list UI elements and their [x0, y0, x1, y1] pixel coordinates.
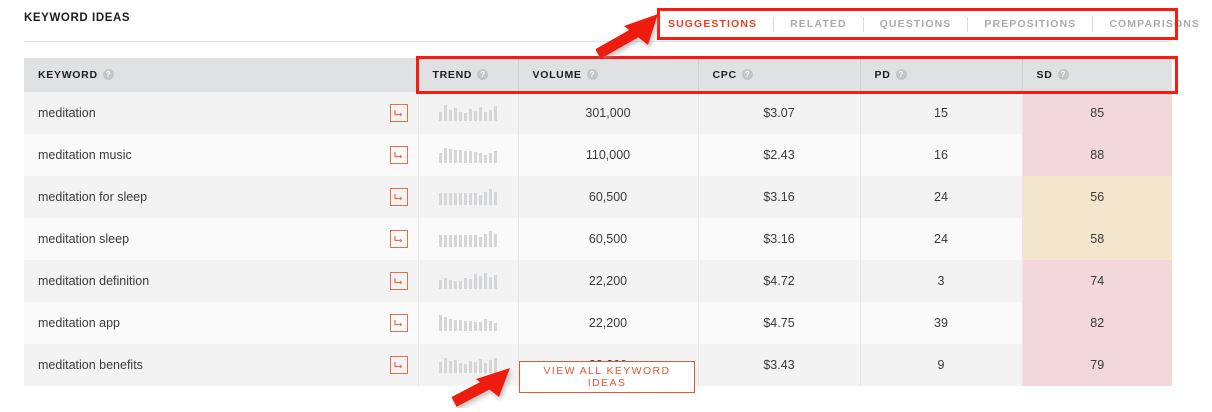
sparkline-bar	[479, 322, 482, 331]
cell-cpc: $2.43	[698, 134, 860, 176]
sparkline-bar	[469, 151, 472, 163]
goto-arrow-icon[interactable]	[390, 104, 408, 122]
sparkline-bar	[489, 189, 492, 205]
help-icon-trend[interactable]: ?	[477, 69, 488, 80]
cell-volume: 22,200	[518, 302, 698, 344]
sparkline-bar	[439, 153, 442, 163]
cell-sd-difficulty: 58	[1022, 218, 1172, 260]
sparkline-bar	[459, 235, 462, 247]
help-icon-sd[interactable]: ?	[1058, 69, 1069, 80]
cell-volume-value: 22,200	[589, 274, 627, 288]
sparkline-bar	[484, 363, 487, 373]
cell-cpc: $3.43	[698, 344, 860, 386]
goto-arrow-icon[interactable]	[390, 356, 408, 374]
cell-trend	[418, 92, 518, 134]
tab-suggestions[interactable]: SUGGESTIONS	[660, 14, 773, 34]
sparkline-bar	[454, 360, 457, 373]
cell-cpc: $3.07	[698, 92, 860, 134]
sparkline-bar	[464, 193, 467, 205]
view-all-keyword-ideas-button[interactable]: VIEW ALL KEYWORD IDEAS	[519, 361, 695, 393]
sparkline-bar	[479, 195, 482, 205]
cell-pd: 9	[860, 344, 1022, 386]
cell-volume: 22,200	[518, 260, 698, 302]
sparkline-bar	[474, 235, 477, 247]
sparkline-bar	[464, 151, 467, 163]
cell-pd-value: 24	[934, 190, 948, 204]
sparkline-bar	[484, 112, 487, 121]
cell-sd-value: 88	[1090, 148, 1104, 162]
goto-arrow-icon[interactable]	[390, 146, 408, 164]
sparkline-bar	[469, 361, 472, 373]
cell-volume: 301,000	[518, 92, 698, 134]
keyword-text: meditation app	[38, 316, 120, 330]
trend-sparkline	[439, 229, 497, 247]
sparkline-bar	[459, 150, 462, 163]
sparkline-bar	[494, 275, 497, 289]
sparkline-bar	[459, 193, 462, 205]
cell-pd: 24	[860, 218, 1022, 260]
cell-sd-value: 74	[1090, 274, 1104, 288]
column-label-volume: VOLUME	[533, 69, 582, 81]
sparkline-bar	[464, 235, 467, 247]
goto-arrow-icon[interactable]	[390, 272, 408, 290]
cell-pd: 3	[860, 260, 1022, 302]
column-header-pd[interactable]: PD?	[860, 58, 1022, 92]
sparkline-bar	[439, 280, 442, 289]
help-icon-cpc[interactable]: ?	[742, 69, 753, 80]
sparkline-bar	[454, 281, 457, 289]
cell-trend	[418, 176, 518, 218]
sparkline-bar	[439, 315, 442, 331]
table-row[interactable]: meditation definition22,200$4.72374	[24, 260, 1172, 302]
cell-cpc-value: $4.75	[763, 316, 794, 330]
trend-sparkline	[439, 103, 497, 121]
cell-pd-value: 39	[934, 316, 948, 330]
help-icon-keyword[interactable]: ?	[103, 69, 114, 80]
sparkline-bar	[479, 107, 482, 121]
cell-cpc: $3.16	[698, 218, 860, 260]
cell-sd-value: 56	[1090, 190, 1104, 204]
cell-trend	[418, 344, 518, 386]
cell-cpc-value: $3.16	[763, 232, 794, 246]
cell-volume: 110,000	[518, 134, 698, 176]
goto-arrow-icon[interactable]	[390, 188, 408, 206]
sparkline-bar	[479, 359, 482, 373]
sparkline-bar	[454, 193, 457, 205]
column-header-keyword[interactable]: KEYWORD?	[24, 58, 418, 92]
trend-sparkline	[439, 355, 497, 373]
sparkline-bar	[489, 321, 492, 331]
table-body: meditation301,000$3.071585meditation mus…	[24, 92, 1172, 386]
tab-prepositions[interactable]: PREPOSITIONS	[968, 14, 1092, 34]
cell-pd-value: 9	[938, 358, 945, 372]
column-header-sd[interactable]: SD?	[1022, 58, 1172, 92]
cell-volume: 60,500	[518, 218, 698, 260]
sparkline-bar	[444, 148, 447, 163]
trend-sparkline	[439, 145, 497, 163]
trend-sparkline	[439, 313, 497, 331]
cell-pd-value: 3	[938, 274, 945, 288]
cell-cpc-value: $2.43	[763, 148, 794, 162]
sparkline-bar	[464, 321, 467, 331]
sparkline-bar	[449, 110, 452, 121]
keyword-text: meditation for sleep	[38, 190, 147, 204]
cell-cpc: $3.16	[698, 176, 860, 218]
sparkline-bar	[494, 151, 497, 163]
cell-cpc-value: $3.43	[763, 358, 794, 372]
sparkline-bar	[484, 155, 487, 163]
cell-volume-value: 60,500	[589, 190, 627, 204]
cell-volume-value: 110,000	[586, 148, 630, 162]
sparkline-bar	[479, 237, 482, 247]
sparkline-bar	[464, 278, 467, 289]
cell-sd-difficulty: 79	[1022, 344, 1172, 386]
cell-pd-value: 15	[934, 106, 948, 120]
column-label-sd: SD	[1037, 69, 1053, 81]
keyword-text: meditation benefits	[38, 358, 143, 372]
help-icon-pd[interactable]: ?	[896, 69, 907, 80]
table-row[interactable]: meditation for sleep60,500$3.162456	[24, 176, 1172, 218]
sparkline-bar	[449, 193, 452, 205]
cell-trend	[418, 302, 518, 344]
cell-trend	[418, 260, 518, 302]
sparkline-bar	[489, 110, 492, 121]
sparkline-bar	[469, 109, 472, 121]
sparkline-bar	[484, 192, 487, 205]
sparkline-bar	[459, 320, 462, 331]
trend-sparkline	[439, 187, 497, 205]
sparkline-bar	[464, 364, 467, 373]
sparkline-bar	[469, 279, 472, 289]
cell-sd-difficulty: 82	[1022, 302, 1172, 344]
table-row[interactable]: meditation app22,200$4.753982	[24, 302, 1172, 344]
column-label-keyword: KEYWORD	[38, 69, 98, 81]
keyword-ideas-tabs: SUGGESTIONS RELATED QUESTIONS PREPOSITIO…	[660, 14, 1212, 34]
sparkline-bar	[454, 150, 457, 163]
sparkline-bar	[474, 322, 477, 331]
cell-sd-difficulty: 85	[1022, 92, 1172, 134]
cell-sd-difficulty: 74	[1022, 260, 1172, 302]
column-label-trend: TREND	[433, 69, 473, 81]
cell-keyword: meditation for sleep	[24, 176, 418, 218]
cell-pd: 15	[860, 92, 1022, 134]
sparkline-bar	[454, 235, 457, 247]
sparkline-bar	[494, 358, 497, 373]
cell-keyword: meditation definition	[24, 260, 418, 302]
sparkline-bar	[444, 193, 447, 205]
cell-volume: 60,500	[518, 176, 698, 218]
sparkline-bar	[459, 112, 462, 121]
sparkline-bar	[439, 235, 442, 247]
sparkline-bar	[489, 153, 492, 163]
column-header-trend[interactable]: TREND?	[418, 58, 518, 92]
table-header-row: KEYWORD? TREND? VOLUME? CPC? PD? SD?	[24, 58, 1172, 92]
sparkline-bar	[489, 277, 492, 289]
sparkline-bar	[484, 234, 487, 247]
sparkline-bar	[494, 106, 497, 121]
sparkline-bar	[444, 278, 447, 289]
cell-cpc-value: $3.07	[763, 106, 794, 120]
sparkline-bar	[444, 317, 447, 331]
sparkline-bar	[454, 320, 457, 331]
cell-cpc-value: $4.72	[763, 274, 794, 288]
keyword-text: meditation	[38, 106, 96, 120]
cell-volume-value: 60,500	[589, 232, 627, 246]
table-row[interactable]: meditation sleep60,500$3.162458	[24, 218, 1172, 260]
sparkline-bar	[444, 358, 447, 373]
cell-sd-value: 85	[1090, 106, 1104, 120]
goto-arrow-icon[interactable]	[390, 314, 408, 332]
sparkline-bar	[464, 113, 467, 121]
sparkline-bar	[444, 235, 447, 247]
cell-keyword: meditation sleep	[24, 218, 418, 260]
cell-keyword: meditation	[24, 92, 418, 134]
tab-comparisons[interactable]: COMPARISONS	[1093, 14, 1212, 34]
sparkline-bar	[489, 360, 492, 373]
sparkline-bar	[449, 361, 452, 373]
sparkline-bar	[474, 274, 477, 289]
sparkline-bar	[489, 231, 492, 247]
sparkline-bar	[469, 321, 472, 331]
sparkline-bar	[454, 108, 457, 121]
page-title: KEYWORD IDEAS	[24, 12, 130, 24]
sparkline-bar	[459, 363, 462, 373]
sparkline-bar	[474, 152, 477, 163]
keyword-text: meditation music	[38, 148, 132, 162]
keyword-ideas-table: KEYWORD? TREND? VOLUME? CPC? PD? SD? med…	[24, 58, 1172, 386]
cell-pd: 39	[860, 302, 1022, 344]
table-row[interactable]: meditation301,000$3.071585	[24, 92, 1172, 134]
cell-pd: 24	[860, 176, 1022, 218]
cell-sd-difficulty: 56	[1022, 176, 1172, 218]
cell-volume-value: 301,000	[585, 106, 630, 120]
cell-cpc: $4.75	[698, 302, 860, 344]
tab-questions[interactable]: QUESTIONS	[864, 14, 968, 34]
cell-keyword: meditation benefits	[24, 344, 418, 386]
sparkline-bar	[494, 323, 497, 331]
cell-pd: 16	[860, 134, 1022, 176]
column-header-volume[interactable]: VOLUME?	[518, 58, 698, 92]
keyword-text: meditation sleep	[38, 232, 129, 246]
cell-keyword: meditation music	[24, 134, 418, 176]
cell-pd-value: 16	[934, 148, 948, 162]
sparkline-bar	[469, 235, 472, 247]
cell-sd-value: 79	[1090, 358, 1104, 372]
sparkline-bar	[474, 362, 477, 373]
cell-keyword: meditation app	[24, 302, 418, 344]
header-divider	[24, 41, 1172, 42]
keyword-text: meditation definition	[38, 274, 149, 288]
table-row[interactable]: meditation music110,000$2.431688	[24, 134, 1172, 176]
sparkline-bar	[494, 192, 497, 205]
cell-volume-value: 22,200	[589, 316, 627, 330]
trend-sparkline	[439, 271, 497, 289]
tab-related[interactable]: RELATED	[774, 14, 863, 34]
cell-sd-value: 58	[1090, 232, 1104, 246]
cell-pd-value: 24	[934, 232, 948, 246]
sparkline-bar	[439, 362, 442, 373]
sparkline-bar	[449, 235, 452, 247]
column-label-cpc: CPC	[713, 69, 737, 81]
sparkline-bar	[479, 276, 482, 289]
sparkline-bar	[474, 193, 477, 205]
sparkline-bar	[449, 280, 452, 289]
sparkline-bar	[439, 112, 442, 121]
sparkline-bar	[449, 149, 452, 163]
sparkline-bar	[444, 105, 447, 121]
sparkline-bar	[474, 111, 477, 121]
help-icon-volume[interactable]: ?	[587, 69, 598, 80]
cell-sd-difficulty: 88	[1022, 134, 1172, 176]
sparkline-bar	[479, 153, 482, 163]
cell-trend	[418, 134, 518, 176]
sparkline-bar	[469, 193, 472, 205]
sparkline-bar	[494, 234, 497, 247]
cell-cpc: $4.72	[698, 260, 860, 302]
cell-cpc-value: $3.16	[763, 190, 794, 204]
sparkline-bar	[439, 193, 442, 205]
sparkline-bar	[449, 319, 452, 331]
sparkline-bar	[484, 273, 487, 289]
column-header-cpc[interactable]: CPC?	[698, 58, 860, 92]
cell-sd-value: 82	[1090, 316, 1104, 330]
sparkline-bar	[484, 319, 487, 331]
column-label-pd: PD	[875, 69, 891, 81]
goto-arrow-icon[interactable]	[390, 230, 408, 248]
cell-trend	[418, 218, 518, 260]
sparkline-bar	[459, 281, 462, 289]
